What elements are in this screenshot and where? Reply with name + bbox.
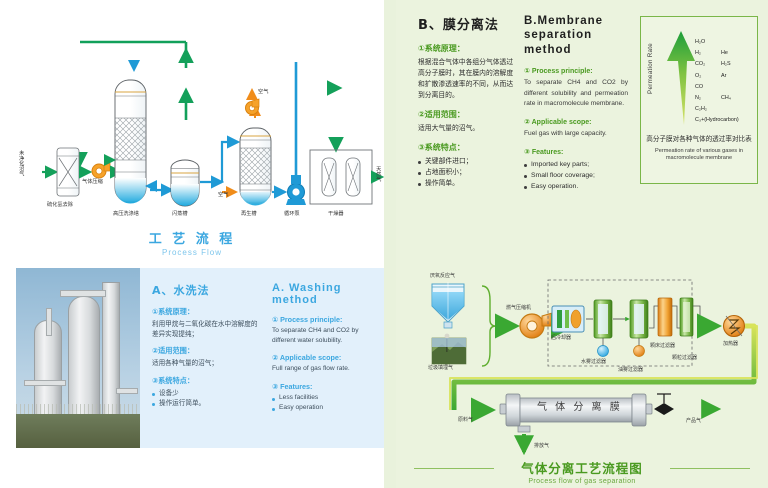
label-air-out: 空气 (258, 90, 268, 95)
membrane-en-s2-title: ② Applicable scope: (524, 118, 628, 126)
membrane-method-english: B.Membrane separation method ① Process p… (524, 14, 628, 192)
gas-row: CO₂H₂S (695, 61, 757, 72)
washing-cn-features: 设备少 操作运行简单。 (152, 388, 260, 409)
gas-row: H₂He (695, 50, 757, 61)
gas-left: H₂O (695, 39, 705, 45)
label-washing-tower: 高压洗涤塔 (113, 212, 139, 217)
label-carbon-bed-filter: 颗床过滤器 (650, 344, 675, 349)
list-item: Easy operation (272, 403, 380, 414)
gas-left: H₂ (695, 50, 701, 56)
membrane-en-s1-title: ① Process principle: (524, 67, 628, 75)
label-aftercooler: 后冷却器 (551, 336, 571, 341)
washing-en-s2-title: ② Applicable scope: (272, 353, 380, 362)
gas-separation-title: 气体分离工艺流程图 Process flow of gas separation (396, 458, 768, 485)
label-anaerobic-gas: 厌氧反应气 (430, 274, 455, 279)
washing-en-s2-body: Full range of gas flow rate. (272, 364, 380, 374)
gas-row: N₂CH₄ (695, 95, 757, 106)
washing-en-s1-title: ① Process principle: (272, 315, 380, 324)
label-flash-tank: 闪蒸槽 (172, 212, 188, 217)
label-h2s-removal: 硫化氢去除 (47, 203, 73, 208)
gas-row: CO (695, 84, 757, 95)
label-air-in: 空气 (218, 193, 228, 198)
gas-right: CH₄ (721, 95, 731, 101)
list-item: 操作简单。 (418, 178, 514, 189)
washing-title-en: A. Washing method (272, 282, 380, 306)
label-feed-gas: 原料气 (458, 418, 473, 423)
membrane-cn-s3-title: ③系统特点： (418, 142, 514, 153)
membrane-cn-features: 关键部件进口； 占地面积小； 操作简单。 (418, 156, 514, 190)
washing-method-chinese: A、水洗法 ①系统原理： 利用甲烷与二氧化碳在水中溶解度的差异实现提纯； ②适用… (152, 282, 260, 409)
label-oil-mist-filter: 油雾过滤器 (618, 368, 643, 373)
label-raw-gas: 未净化沼气 (18, 150, 23, 176)
gas-left: C₃+(Hydrocarbon) (695, 117, 739, 123)
list-item: 设备少 (152, 388, 260, 399)
washing-en-features: Less facilities Easy operation (272, 393, 380, 414)
label-gas-compression: 气体压缩 (82, 180, 103, 185)
permeation-caption-en: Permeation rate of various gases in macr… (645, 148, 753, 164)
process-flow-title-en: Process Flow (0, 248, 384, 257)
permeation-axis-label: Permeation Rate (647, 43, 654, 94)
label-water-mist-filter: 水雾过滤器 (581, 360, 606, 365)
membrane-en-features: Imported key parts; Small floor coverage… (524, 159, 628, 193)
washing-cn-s1-title: ①系统原理： (152, 307, 260, 317)
permeation-gas-list: H₂O H₂He CO₂H₂S O₂Ar CO N₂CH₄ C₂H₂ C₃+(H… (695, 39, 757, 129)
gas-separation-diagram: 厌氧反应气 垃圾填埋气 燃气压缩机 后冷却器 水雾过滤器 油雾过滤器 颗床过滤器… (396, 262, 768, 488)
washing-cn-s2-body: 适用各种气量的沼气； (152, 358, 260, 368)
gas-left: C₂H₂ (695, 106, 707, 112)
list-item: Imported key parts; (524, 159, 628, 170)
gas-row: O₂Ar (695, 73, 757, 84)
membrane-cn-s1-title: ①系统原理： (418, 43, 514, 54)
membrane-cn-s2-body: 适用大气量的沼气。 (418, 123, 514, 134)
gas-left: CO (695, 84, 703, 90)
gas-right: Ar (721, 73, 726, 79)
label-particle-filter: 颗粒过滤器 (672, 356, 697, 361)
label-compressor: 燃气压缩机 (506, 306, 531, 311)
label-membrane: 气 体 分 离 膜 (537, 403, 622, 413)
permeation-rate-chart: Permeation Rate H₂O H₂He CO₂H₂S O₂Ar CO … (640, 16, 758, 184)
gas-right: H₂S (721, 61, 731, 67)
washing-en-s3-title: ③ Features: (272, 382, 380, 391)
membrane-en-s1-body: To separate CH4 and CO2 by different sol… (524, 78, 628, 110)
process-flow-diagram: 未净化沼气 硫化氢去除 气体压缩 高压洗涤塔 闪蒸槽 空气 空气 再生槽 循环泵… (0, 0, 384, 262)
gas-separation-title-en: Process flow of gas separation (396, 478, 768, 485)
washing-cn-s3-title: ③系统特点： (152, 376, 260, 386)
washing-title-cn: A、水洗法 (152, 282, 260, 298)
washing-method-english: A. Washing method ① Process principle: T… (272, 282, 380, 414)
plant-photo (16, 268, 140, 448)
list-item: 占地面积小； (418, 167, 514, 178)
label-exhaust-gas: 排放气 (534, 444, 549, 449)
membrane-cn-s1-body: 根据混合气体中各组分气体透过高分子膜时，其在膜内的溶解度和扩散渗透速率的不同，从… (418, 57, 514, 101)
gas-row: C₂H₂ (695, 106, 757, 117)
label-heater: 加热器 (723, 342, 738, 347)
list-item: 关键部件进口； (418, 156, 514, 167)
label-circulation-pump: 循环泵 (284, 212, 300, 217)
membrane-title-en: B.Membrane separation method (524, 14, 628, 57)
permeation-caption: 高分子膜对各种气体的透过率对比表 Permeation rate of vari… (645, 135, 753, 163)
gas-left: O₂ (695, 73, 701, 79)
photo-pipe-right (116, 388, 138, 394)
label-dryer: 干燥器 (328, 212, 344, 217)
process-flow-title-cn: 工 艺 流 程 (0, 228, 384, 247)
photo-pipe-mid (24, 380, 66, 386)
gas-separation-title-cn: 气体分离工艺流程图 (396, 458, 768, 477)
membrane-en-s3-title: ③ Features: (524, 148, 628, 156)
list-item: 操作运行简单。 (152, 398, 260, 409)
membrane-en-s2-body: Fuel gas with large capacity. (524, 129, 628, 140)
membrane-method-chinese: B、膜分离法 ①系统原理： 根据混合气体中各组分气体透过高分子膜时，其在膜内的溶… (418, 14, 514, 190)
washing-cn-s2-title: ②适用范围： (152, 346, 260, 356)
washing-cn-s1-body: 利用甲烷与二氧化碳在水中溶解度的差异实现提纯； (152, 319, 260, 339)
gas-row: C₃+(Hydrocarbon) (695, 117, 757, 128)
photo-pipe-top (60, 290, 106, 297)
permeation-caption-cn: 高分子膜对各种气体的透过率对比表 (645, 135, 753, 145)
gas-right: He (721, 50, 728, 56)
gas-left: CO₂ (695, 61, 705, 67)
membrane-title-cn: B、膜分离法 (418, 14, 514, 33)
gas-left: N₂ (695, 95, 701, 101)
process-flow-title: 工 艺 流 程 Process Flow (0, 228, 384, 257)
label-product-gas: 产品气 (686, 419, 701, 424)
photo-pipe-vent (46, 308, 52, 336)
list-item: Less facilities (272, 393, 380, 404)
list-item: Easy operation. (524, 181, 628, 192)
membrane-cn-s2-title: ②适用范围： (418, 109, 514, 120)
list-item: Small floor coverage; (524, 170, 628, 181)
brochure-page: 未净化沼气 硫化氢去除 气体压缩 高压洗涤塔 闪蒸槽 空气 空气 再生槽 循环泵… (0, 0, 768, 488)
label-natural-gas: 天然气 (375, 166, 380, 182)
gas-row: H₂O (695, 39, 757, 50)
photo-ground (16, 414, 140, 448)
washing-en-s1-body: To separate CH4 and CO2 by different wat… (272, 326, 380, 346)
label-landfill-gas: 垃圾填埋气 (428, 366, 453, 371)
label-regeneration-tank: 再生槽 (241, 212, 257, 217)
